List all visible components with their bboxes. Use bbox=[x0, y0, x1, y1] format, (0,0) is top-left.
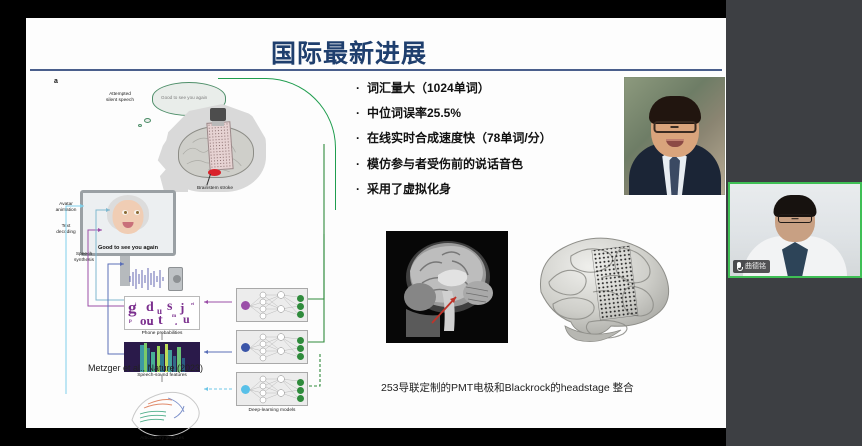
bullet-text: 中位词误率25.5% bbox=[367, 107, 461, 120]
title-divider bbox=[30, 69, 722, 71]
shared-slide: 国际最新进展 a Good to see you again Attempted… bbox=[26, 18, 726, 428]
bullet-item: · 模仿参与者受伤前的说话音色 bbox=[356, 158, 636, 171]
participant-collar bbox=[782, 242, 808, 276]
bullet-marker: · bbox=[356, 132, 360, 144]
nature-figure: a Good to see you again Attempted silent… bbox=[32, 74, 338, 394]
mic-icon bbox=[736, 262, 742, 271]
participant-name-badge: 曲德铭 bbox=[733, 260, 770, 273]
bullet-item: · 采用了虚拟化身 bbox=[356, 183, 636, 196]
bullet-marker: · bbox=[356, 107, 360, 119]
portrait-glasses bbox=[653, 121, 696, 133]
participant-name-label: 曲德铭 bbox=[745, 263, 766, 270]
model-output-node bbox=[297, 395, 304, 402]
screen-share-view: 曲德铭 国际最新进展 a Good to see you again Attem… bbox=[0, 0, 862, 446]
figure-caption: 253导联定制的PMT电极和Blackrock的headstage 整合 bbox=[381, 380, 634, 395]
bullet-list: · 词汇量大（1024单词） · 中位词误率25.5% · 在线实时合成速度快（… bbox=[356, 82, 636, 208]
participant-glasses bbox=[778, 214, 812, 223]
bullet-text: 采用了虚拟化身 bbox=[367, 183, 451, 196]
brain-render-graphic bbox=[523, 226, 683, 356]
bullet-item: · 在线实时合成速度快（78单词/分） bbox=[356, 132, 636, 145]
mri-graphic bbox=[386, 231, 508, 343]
figure-citation: Metzger et al., Nature (2023) bbox=[88, 363, 203, 373]
slide-title: 国际最新进展 bbox=[271, 34, 427, 70]
bullet-item: · 词汇量大（1024单词） bbox=[356, 82, 636, 95]
portrait-hair bbox=[649, 96, 701, 124]
figure-connector-wires bbox=[32, 74, 338, 394]
bullet-text: 模仿参与者受伤前的说话音色 bbox=[367, 158, 523, 171]
bullet-marker: · bbox=[356, 158, 360, 170]
sagittal-mri-image bbox=[386, 231, 508, 343]
bullet-text: 词汇量大（1024单词） bbox=[367, 82, 490, 95]
bullet-item: · 中位词误率25.5% bbox=[356, 107, 636, 120]
label-articulatory-gestures: Articulatory gestures bbox=[118, 436, 206, 442]
brain-3d-render-with-electrodes bbox=[523, 226, 683, 356]
researcher-portrait-photo bbox=[623, 76, 726, 196]
bullet-marker: · bbox=[356, 183, 360, 195]
bullet-text: 在线实时合成速度快（78单词/分） bbox=[367, 132, 552, 145]
bullet-marker: · bbox=[356, 82, 360, 94]
participant-video-tile[interactable]: 曲德铭 bbox=[728, 182, 862, 278]
label-deep-learning-models: Deep-learning models bbox=[220, 408, 324, 414]
